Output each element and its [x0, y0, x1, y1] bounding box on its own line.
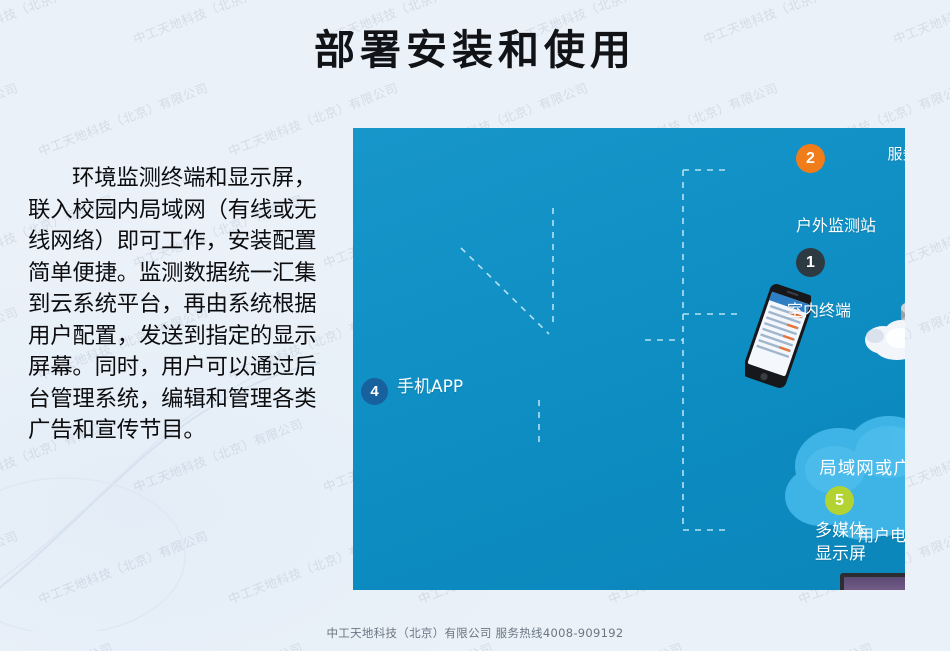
label-outdoor-station: 户外监测站 — [796, 216, 876, 235]
label-mobile-app: 手机APP — [397, 378, 463, 397]
badge-outdoor-station: 2 — [796, 144, 825, 173]
server-database-cloud-icon — [861, 296, 905, 366]
network-topology-diagram: 局域网或广域网 — [353, 128, 905, 590]
slide-body-paragraph: 环境监测终端和显示屏，联入校园内局域网（有线或无线网络）即可工作，安装配置简单便… — [28, 163, 328, 447]
badge-indoor-terminal: 1 — [796, 248, 825, 277]
page-title: 部署安装和使用 — [0, 16, 950, 76]
mobile-phone-icon — [745, 283, 811, 389]
label-indoor-terminal: 室内终端 — [787, 301, 851, 320]
badge-multimedia-display: 5 — [825, 486, 854, 515]
badge-mobile-app: 4 — [361, 378, 388, 405]
desktop-computer-icon — [838, 571, 905, 590]
label-server-system: 服务器系统 — [865, 145, 905, 164]
wan-lan-cloud-label: 局域网或广域网 — [777, 455, 905, 480]
slide-footer: 中工天地科技（北京）有限公司 服务热线4008-909192 — [0, 625, 950, 641]
label-multimedia-display: 多媒体 显示屏 — [815, 520, 866, 566]
